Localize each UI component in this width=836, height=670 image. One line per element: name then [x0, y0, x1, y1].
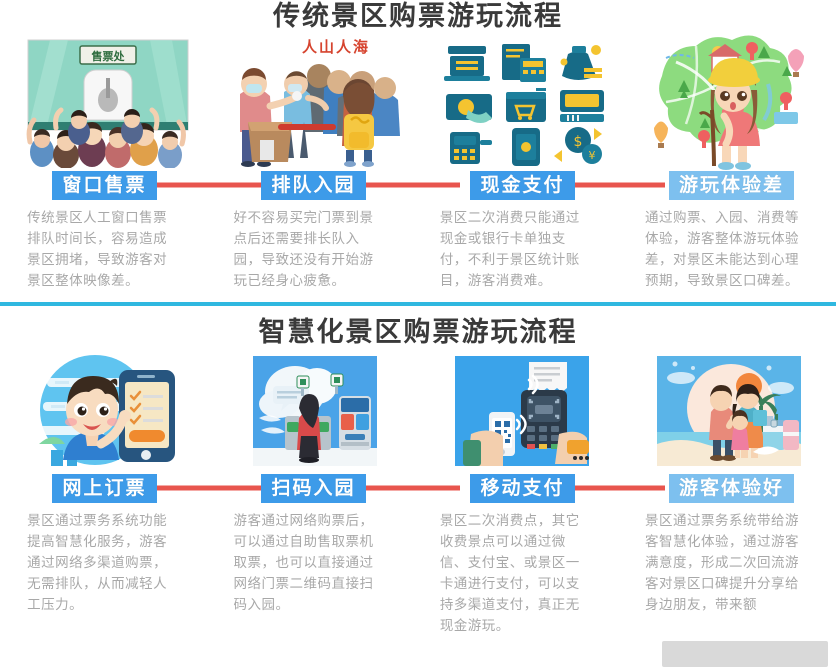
svg-text:¥: ¥ [588, 149, 595, 162]
infographic-page: 传统景区购票游玩流程 售票处 [0, 0, 836, 670]
cash-hand-icon [446, 94, 492, 123]
illustration-ticket-window-crowd: 售票处 [4, 34, 211, 169]
hand-holding-pos [555, 432, 589, 464]
step-label-youketiyanhao[interactable]: 游客体验好 [669, 474, 794, 503]
illustration-tourist-girl-map [625, 34, 832, 169]
illustration-mobile-pay-pos [418, 350, 625, 472]
connector-line-6 [560, 486, 665, 491]
queue-entrance-crowd-art: 人山人海 [220, 36, 410, 168]
money-bag-icon [560, 45, 602, 80]
connector-line-5 [355, 486, 460, 491]
svg-text:$: $ [573, 134, 582, 150]
step-label-chuangkoushoupiao[interactable]: 窗口售票 [52, 171, 156, 200]
connector-line-3 [560, 183, 665, 188]
ticket-window-crowd-art: 售票处 [22, 36, 194, 168]
connector-line-2 [355, 183, 460, 188]
illustration-happy-family-beach [625, 350, 832, 472]
description-cell-traditional-3: 景区二次消费只能通过现金或银行卡单独支付，不利于景区统计账目，游客消费难。 [413, 208, 619, 292]
illustration-queue-entrance-crowd: 人山人海 [211, 34, 418, 169]
section-title-smart: 智慧化景区购票游玩流程 [0, 316, 836, 350]
description-text-youketiyanhao: 景区通过票务系统带给游客智慧化体验，通过游客满意度，形成二次回流游客对景区口碑提… [645, 511, 810, 637]
coin-exchange-icon: $ ¥ [554, 127, 602, 164]
description-row-smart: 景区通过票务系统功能提高智慧化服务，游客通过网络多渠道购票，无需排队，从而减轻人… [0, 504, 836, 637]
step-label-youwantiyancha[interactable]: 游玩体验差 [669, 171, 794, 200]
hot-air-balloon-icon [654, 121, 668, 148]
section-smart: 智慧化景区购票游玩流程 [0, 306, 836, 637]
description-cell-smart-3: 景区二次消费点，其它收费景点可以通过微信、支付宝、或景区一卡通进行支付，可以支持… [413, 511, 619, 637]
self-service-kiosk [339, 396, 371, 450]
pos-terminal-icon [450, 132, 492, 164]
step-label-saomaruyuan[interactable]: 扫码入园 [261, 474, 365, 503]
mobile-cash-icon [512, 128, 540, 166]
description-text-chuangkoushoupiao: 传统景区人工窗口售票排队时间长，容易造成景区拥堵，导致游客对景区整体映像差。 [27, 208, 179, 292]
description-text-xianjinzhifu: 景区二次消费只能通过现金或银行卡单独支付，不利于景区统计账目，游客消费难。 [440, 208, 592, 292]
description-cell-traditional-1: 传统景区人工窗口售票排队时间长，容易造成景区拥堵，导致游客对景区整体映像差。 [0, 208, 206, 292]
step-label-yidongzhifu[interactable]: 移动支付 [470, 474, 574, 503]
description-cell-traditional-4: 通过购票、入园、消费等体验，游客整体游玩体验差，对景区未能达到心理预期，导致景区… [619, 208, 836, 292]
illustration-qr-gate-kiosk [211, 350, 418, 472]
redaction-block [662, 641, 828, 667]
qr-gate-kiosk-art [253, 352, 377, 470]
description-text-youwantiyancha: 通过购票、入园、消费等体验，游客整体游玩体验差，对景区未能达到心理预期，导致景区… [645, 208, 810, 292]
ticket-window-sign-text: 售票处 [90, 49, 125, 63]
illustration-boy-phone-booking [4, 350, 211, 472]
section-title-traditional: 传统景区购票游玩流程 [0, 0, 836, 34]
description-text-wangshangdingpiao: 景区通过票务系统功能提高智慧化服务，游客通过网络多渠道购票，无需排队，从而减轻人… [27, 511, 179, 637]
boy-phone-booking-art [33, 352, 183, 470]
illustration-payment-icon-grid: $ ¥ [418, 34, 625, 169]
payment-icon-grid-art: $ ¥ [434, 36, 610, 168]
tourist-girl-map-art [636, 32, 822, 172]
connector-line-4 [148, 486, 264, 491]
section-traditional: 传统景区购票游玩流程 售票处 [0, 0, 836, 292]
description-cell-smart-4: 景区通过票务系统带给游客智慧化体验，通过游客满意度，形成二次回流游客对景区口碑提… [619, 511, 836, 637]
description-text-saomaruyuan: 游客通过网络购票后，可以通过自助售取票机取票，也可以直接通过网络门票二维码直接扫… [233, 511, 385, 637]
atm-icon [560, 90, 604, 122]
illustration-row-traditional: 售票处 [0, 34, 836, 169]
step-label-xianjinzhifu[interactable]: 现金支付 [470, 171, 574, 200]
description-text-paiduiruyuan: 好不容易买完门票到景点后还需要排长队入园，导致还没有开始游玩已经身心疲惫。 [233, 208, 385, 292]
description-text-yidongzhifu: 景区二次消费点，其它收费景点可以通过微信、支付宝、或景区一卡通进行支付，可以支持… [440, 511, 592, 637]
description-row-traditional: 传统景区人工窗口售票排队时间长，容易造成景区拥堵，导致游客对景区整体映像差。 好… [0, 201, 836, 292]
description-cell-smart-1: 景区通过票务系统功能提高智慧化服务，游客通过网络多渠道购票，无需排队，从而减轻人… [0, 511, 206, 637]
illustration-row-smart [0, 350, 836, 472]
description-cell-traditional-2: 好不容易买完门票到景点后还需要排长队入园，导致还没有开始游玩已经身心疲惫。 [206, 208, 412, 292]
hot-air-balloon-icon [788, 49, 804, 77]
mobile-pay-pos-art [455, 352, 589, 470]
connector-line-1 [148, 183, 264, 188]
step-label-paiduiruyuan[interactable]: 排队入园 [261, 171, 365, 200]
online-shopping-icon [506, 88, 546, 122]
happy-family-beach-art [657, 352, 801, 470]
step-label-wangshangdingpiao[interactable]: 网上订票 [52, 474, 156, 503]
steps-row-traditional: 窗口售票 排队入园 现金支付 游玩体验差 [0, 169, 836, 201]
crowd-caption-text: 人山人海 [301, 38, 369, 56]
woman-visitor [297, 394, 321, 463]
steps-row-smart: 网上订票 扫码入园 移动支付 游客体验好 [0, 472, 836, 504]
description-cell-smart-2: 游客通过网络购票后，可以通过自助售取票机取票，也可以直接通过网络门票二维码直接扫… [206, 511, 412, 637]
